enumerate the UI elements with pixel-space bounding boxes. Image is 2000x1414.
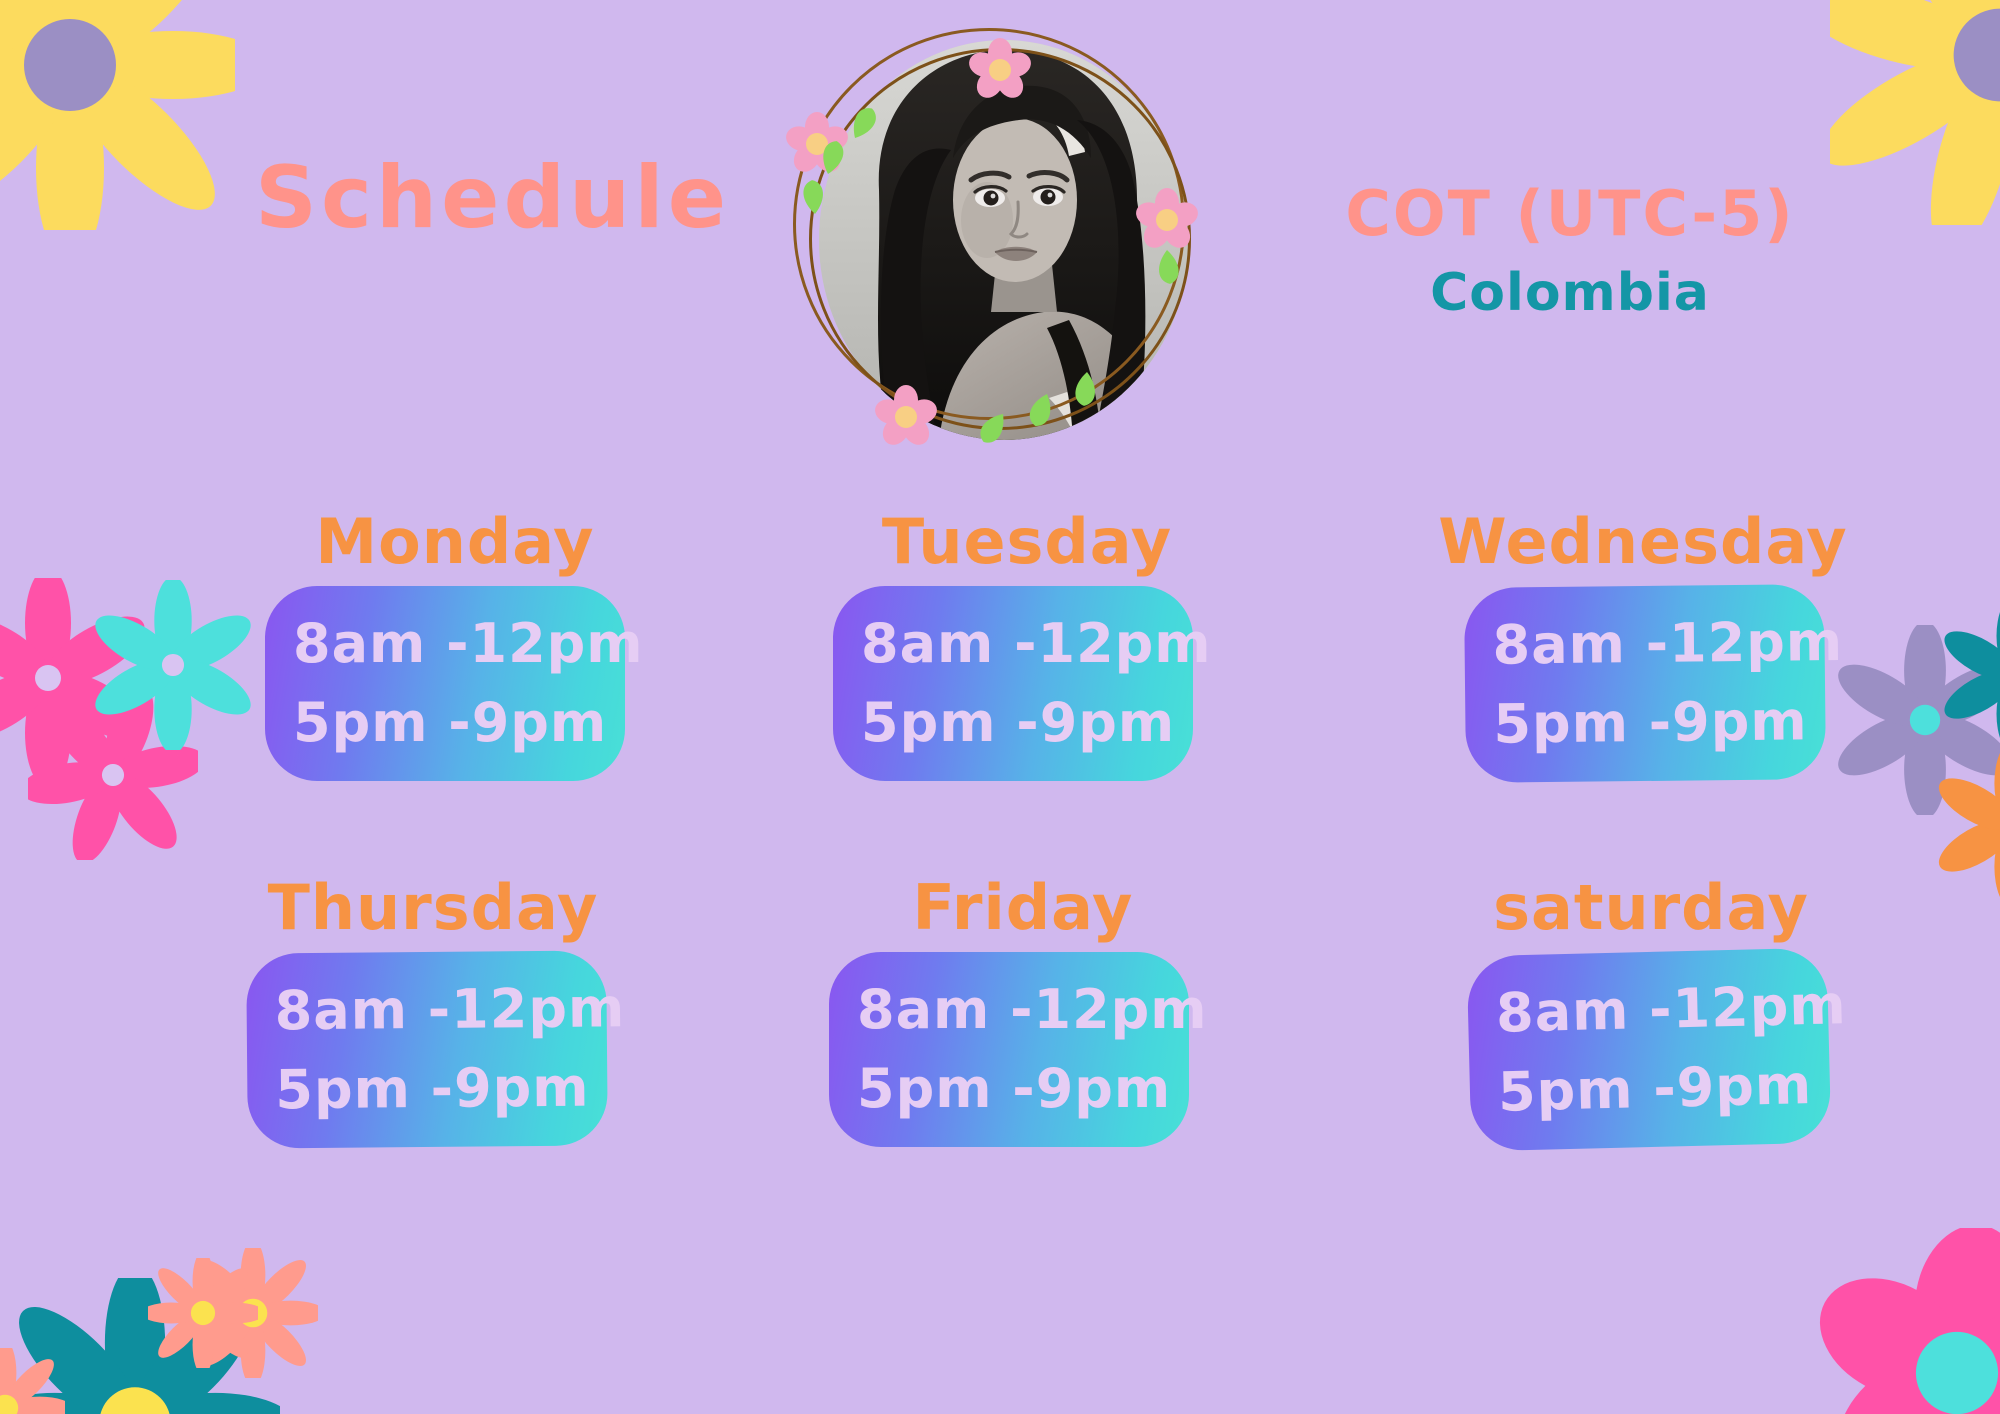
schedule-grid: Monday 8am -12pm 5pm -9pm Tuesday 8am -1… — [0, 505, 2000, 1147]
day-label-tuesday: Tuesday — [747, 505, 1307, 578]
time-slot-morning: 8am -12pm — [1482, 603, 1825, 685]
schedule-graphic: Schedule COT (UTC-5) Colombia Monday 8am… — [0, 0, 2000, 1414]
day-cell-saturday: saturday 8am -12pm 5pm -9pm — [1335, 871, 1895, 1147]
time-slot-evening: 5pm -9pm — [283, 684, 625, 762]
day-cell-wednesday: Wednesday 8am -12pm 5pm -9pm — [1335, 505, 1895, 781]
day-label-monday: Monday — [175, 505, 735, 578]
timezone-label: COT (UTC-5) — [1310, 178, 1830, 249]
time-slot-evening: 5pm -9pm — [851, 684, 1193, 762]
time-slot-morning: 8am -12pm — [264, 970, 607, 1051]
daisy-yellow-top-right-icon — [1830, 0, 2000, 225]
daisy-salmon-corner-icon — [0, 1348, 65, 1414]
day-cell-tuesday: Tuesday 8am -12pm 5pm -9pm — [755, 505, 1315, 781]
blossom-pink-ring-right-icon — [1133, 188, 1201, 253]
day-cell-thursday: Thursday 8am -12pm 5pm -9pm — [175, 871, 735, 1147]
daisy-yellow-top-left-icon — [0, 0, 235, 230]
schedule-row-2: Thursday 8am -12pm 5pm -9pm Friday 8am -… — [0, 871, 2000, 1147]
leaf-green-ring-5-icon — [976, 408, 1011, 447]
leaf-green-ring-6-icon — [1026, 391, 1056, 430]
time-card-thursday: 8am -12pm 5pm -9pm — [246, 950, 608, 1148]
daisy-teal-bottom-left-icon — [0, 1278, 280, 1414]
day-label-saturday: saturday — [1371, 871, 1931, 944]
time-slot-evening: 5pm -9pm — [847, 1050, 1189, 1128]
time-slot-evening: 5pm -9pm — [1487, 1045, 1831, 1132]
schedule-row-1: Monday 8am -12pm 5pm -9pm Tuesday 8am -1… — [0, 505, 2000, 781]
day-label-wednesday: Wednesday — [1363, 505, 1923, 578]
daisy-salmon-thursday-2-icon — [148, 1258, 258, 1368]
time-card-monday: 8am -12pm 5pm -9pm — [265, 586, 625, 781]
day-label-friday: Friday — [743, 871, 1303, 944]
leaf-green-ring-7-icon — [1074, 371, 1096, 407]
time-card-saturday: 8am -12pm 5pm -9pm — [1467, 948, 1832, 1152]
blossom-pink-ring-bottom-icon — [872, 385, 940, 450]
time-slot-morning: 8am -12pm — [283, 605, 625, 683]
time-slot-morning: 8am -12pm — [847, 971, 1189, 1049]
time-slot-evening: 5pm -9pm — [1483, 682, 1826, 764]
time-card-friday: 8am -12pm 5pm -9pm — [829, 952, 1189, 1147]
blossom-pink-ring-top-icon — [966, 38, 1034, 103]
daisy-pink-bottom-right-icon — [1812, 1228, 2000, 1414]
day-cell-friday: Friday 8am -12pm 5pm -9pm — [755, 871, 1315, 1147]
day-label-thursday: Thursday — [153, 871, 713, 944]
leaf-green-ring-4-icon — [1157, 249, 1179, 285]
daisy-salmon-bottom-left-icon — [188, 1248, 318, 1378]
time-slot-morning: 8am -12pm — [851, 605, 1193, 683]
day-cell-monday: Monday 8am -12pm 5pm -9pm — [175, 505, 735, 781]
time-card-tuesday: 8am -12pm 5pm -9pm — [833, 586, 1193, 781]
page-title: Schedule — [255, 148, 855, 248]
time-card-wednesday: 8am -12pm 5pm -9pm — [1464, 584, 1826, 783]
timezone-block: COT (UTC-5) Colombia — [1310, 178, 1830, 323]
time-slot-evening: 5pm -9pm — [265, 1048, 608, 1129]
time-slot-morning: 8am -12pm — [1485, 967, 1829, 1054]
country-label: Colombia — [1310, 263, 1830, 323]
leaf-green-ring-icon — [847, 104, 881, 143]
